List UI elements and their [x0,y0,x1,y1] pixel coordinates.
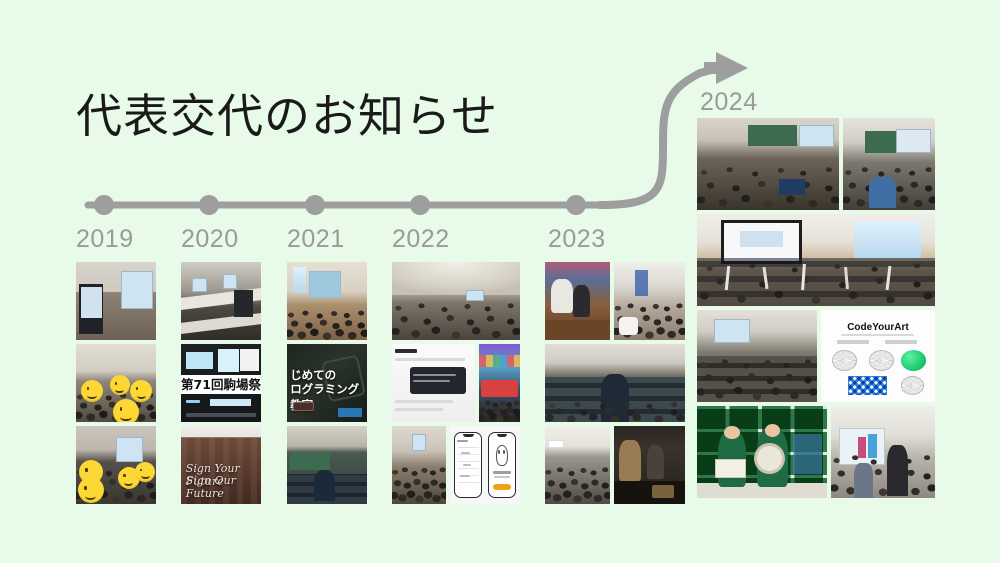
photo-social-dinner [614,426,685,504]
green-circle-icon [901,350,926,370]
photo-school-classroom-raised-hands [697,214,935,306]
photo-phone-mockups [450,426,520,504]
emoji-face-icon [78,477,104,503]
photo-api-documentation-screenshot [392,344,475,422]
photo-column-2019 [76,262,156,504]
emoji-face-icon [135,462,155,482]
owl-illustration-icon [496,445,508,467]
photo-codeyourart-slide: CodeYourArt [821,310,935,402]
emoji-face-icon [110,375,130,395]
photo-workshop-room-screen [287,262,367,340]
spirograph-icon [869,350,894,370]
photo-classroom-projector [76,262,156,340]
year-label-2019: 2019 [76,225,134,254]
timeline-dot-2021 [305,195,325,215]
photo-sign-your-future-banner: Sign Your Future Sign Our Future [181,426,261,504]
timeline-dot-2023 [566,195,586,215]
slide-root: 代表交代のお知らせ 2019 2020 2021 2022 2023 2024 [0,0,1000,563]
photo-university-lecture-crowd [697,118,839,210]
timeline-dot-2022 [410,195,430,215]
phone-app-flowchart [454,432,482,498]
photo-video-editing-screenshot: 第71回駒場祭 [181,344,261,422]
caption-codeyourart: CodeYourArt [821,322,935,333]
year-label-2020: 2020 [181,225,239,254]
photo-programming-class-poster: じめての ログラミング教室 [287,344,367,422]
spirograph-icon [832,350,857,370]
timeline-dot-2020 [199,195,219,215]
phone-app-owl-onboarding [488,432,516,498]
blue-pattern-icon [848,376,887,394]
year-label-2023: 2023 [548,225,606,254]
photo-wide-lecture-hall [545,344,685,422]
caption-komabasai: 第71回駒場祭 [181,375,261,394]
timeline-dot-2019 [94,195,114,215]
photo-column-2020: 第71回駒場祭 Sign Your Future Sign Our Future [181,262,261,504]
photo-classroom-presentation [831,406,935,498]
spirograph-icon [901,376,924,394]
photo-workshop-laptops-emoji [76,426,156,504]
photo-column-2022 [392,262,520,504]
photo-classroom-students-emoji [76,344,156,422]
emoji-face-icon [113,399,139,422]
photo-mentoring-laptops [545,262,610,340]
photo-column-2021: じめての ログラミング教室 [287,262,367,504]
photo-lecture-hall-back-view [287,426,367,504]
photo-column-2023 [545,262,685,504]
photo-group-photo-indoor [545,426,610,504]
emoji-face-icon [81,380,103,402]
primary-action-button[interactable] [493,484,512,490]
caption-sign-our-future: Sign Our Future [186,474,256,500]
photo-panel-2024: CodeYourArt [697,118,935,498]
year-label-2021: 2021 [287,225,345,254]
photo-computer-room-session [697,310,817,402]
photo-group-work-room [392,426,446,504]
photo-large-lecture-hall [392,262,520,340]
photo-event-stage-banner [479,344,520,422]
year-label-2022: 2022 [392,225,450,254]
photo-workshop-projector-room [843,118,935,210]
photo-computer-lab-desks [181,262,261,340]
photo-cafeteria-workshop [614,262,685,340]
year-label-2024: 2024 [700,88,758,117]
photo-award-ceremony-green-backdrop [697,406,827,498]
